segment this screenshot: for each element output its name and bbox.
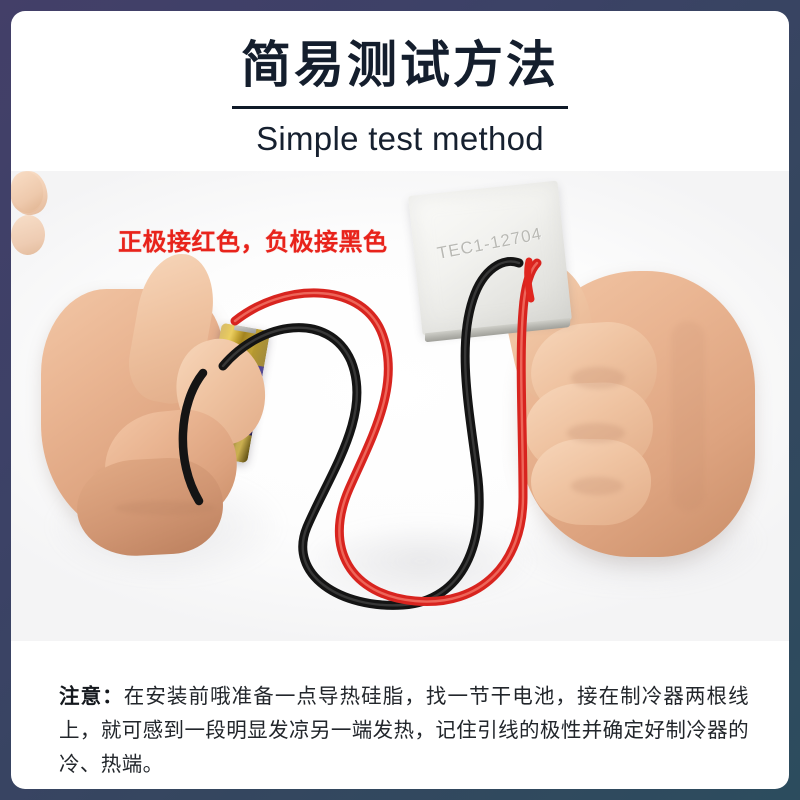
product-photo: 正极接红色，负极接黑色 TEC1-12704	[11, 171, 789, 641]
wire-red-module-lead	[528, 261, 531, 299]
wire-red	[235, 263, 537, 602]
white-card: 简易测试方法 Simple test method 正极接红色，负极接黑色	[11, 11, 789, 789]
wire-layer	[11, 171, 789, 641]
wire-red-highlight	[235, 263, 537, 602]
caption-prefix: 注意：	[59, 685, 124, 708]
caption-body: 在安装前哦准备一点导热硅脂，找一节干电池，接在制冷器两根线上，就可感到一段明显发…	[59, 685, 749, 776]
title-divider	[232, 106, 568, 109]
poster-root: 简易测试方法 Simple test method 正极接红色，负极接黑色	[0, 0, 800, 800]
page-title-cn: 简易测试方法	[11, 36, 789, 94]
page-title-en: Simple test method	[11, 117, 789, 161]
wire-black-stub	[183, 373, 203, 501]
caption-text: 注意：在安装前哦准备一点导热硅脂，找一节干电池，接在制冷器两根线上，就可感到一段…	[59, 680, 749, 782]
